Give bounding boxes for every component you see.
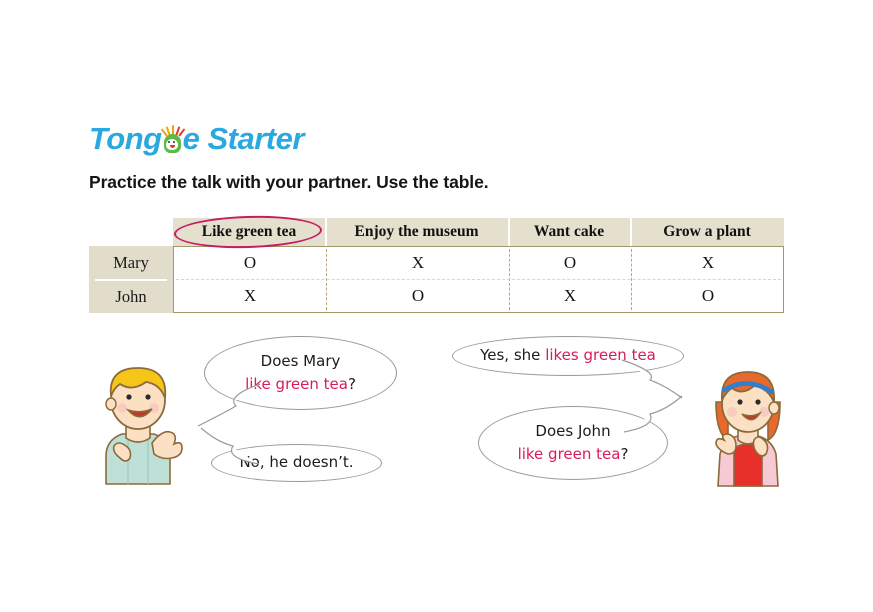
table-header-cell: Grow a plant <box>630 218 784 246</box>
bubble-line-2: like green tea? <box>518 443 629 466</box>
logo-text-part2: e Starter <box>183 123 304 154</box>
worksheet-page: Tong e Starter Practice the talk with yo… <box>0 0 873 612</box>
speech-bubble-boy-question: Does Mary like green tea? <box>204 336 397 410</box>
bubble-tail <box>196 380 266 430</box>
table-header-row: Like green tea Enjoy the museum Want cak… <box>173 218 784 246</box>
table-header-cell: Enjoy the museum <box>325 218 508 246</box>
boy-character-illustration <box>88 360 188 485</box>
speech-bubble-girl-question: Does John like green tea? <box>478 406 668 480</box>
bubble-line-1: Does John <box>535 420 610 443</box>
girl-character-illustration <box>698 362 798 487</box>
mascot-mouth <box>170 145 175 149</box>
table-name-column: Mary John <box>89 246 173 313</box>
logo-text-part1: Tong <box>89 123 162 154</box>
bubble-tail <box>616 392 686 437</box>
bubble-line-1-black: Yes, she <box>480 346 540 364</box>
instruction-text: Practice the talk with your partner. Use… <box>89 172 488 193</box>
bubble-line-1: Does Mary <box>261 350 341 373</box>
table-row-name: Mary <box>89 246 173 279</box>
table-header-cell: Like green tea <box>173 218 325 246</box>
speech-bubble-girl-answer: Yes, she likes green tea <box>452 336 684 376</box>
table-header-cell: Want cake <box>508 218 630 246</box>
row-divider <box>176 279 781 280</box>
bubble-line-2-mark: ? <box>620 445 628 463</box>
table-row-name: John <box>89 281 173 314</box>
table-body: O X O X X O X O <box>173 246 784 313</box>
bubble-tail <box>197 424 267 469</box>
tongue-starter-logo: Tong e Starter <box>89 119 304 157</box>
logo-text: Tong e Starter <box>89 123 304 154</box>
speech-bubble-boy-answer: No, he doesn’t. <box>211 444 382 482</box>
green-creature-icon <box>162 125 183 153</box>
bubble-line-2-mark: ? <box>348 375 356 393</box>
practice-table: Mary John Like green tea Enjoy the museu… <box>89 218 784 313</box>
bubble-line-2-pink: like green tea <box>518 445 621 463</box>
